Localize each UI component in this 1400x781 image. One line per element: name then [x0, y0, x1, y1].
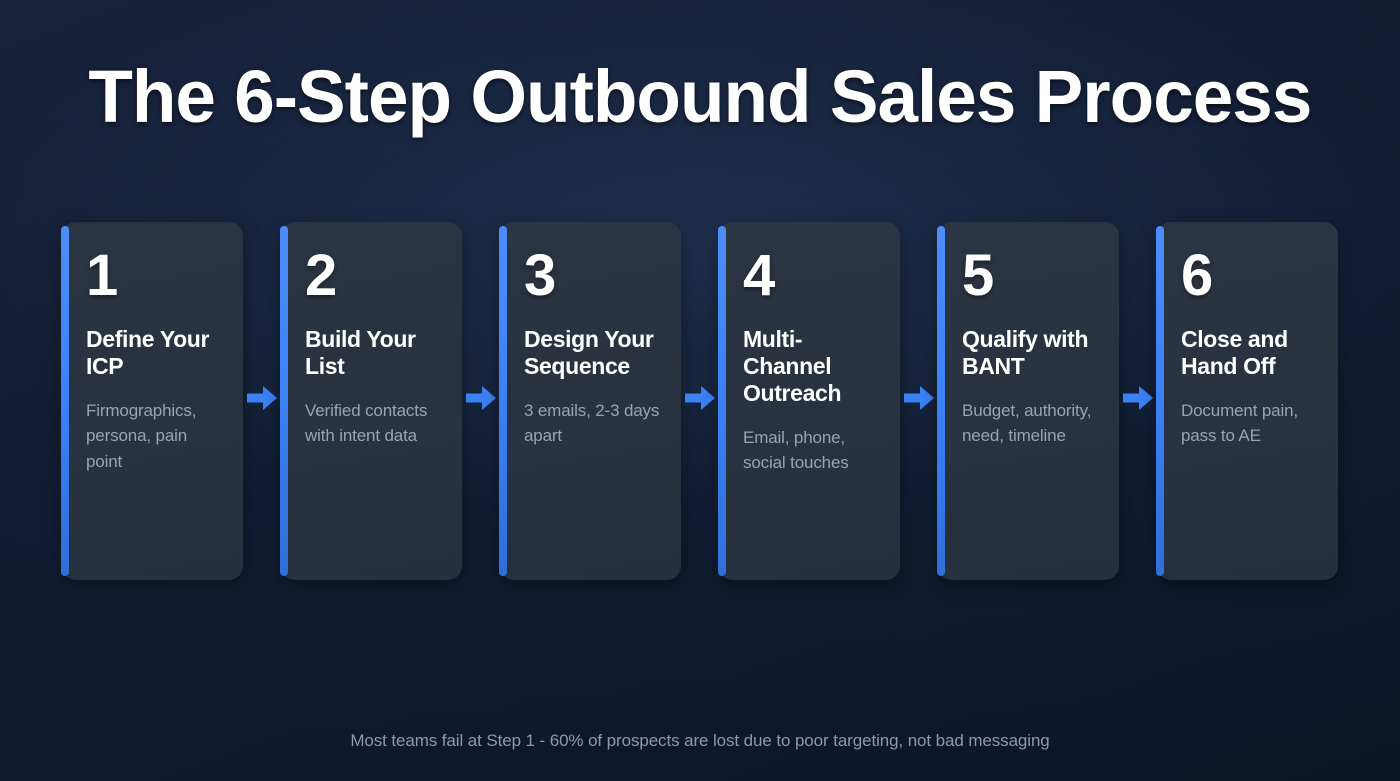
connector-1-to-2: [243, 222, 281, 580]
step-description: Firmographics, persona, pain point: [86, 398, 225, 475]
step-title: Close and Hand Off: [1181, 326, 1320, 380]
footer-note: Most teams fail at Step 1 - 60% of prosp…: [0, 731, 1400, 751]
step-number: 4: [743, 252, 882, 300]
connector-3-to-4: [681, 222, 719, 580]
step-number: 5: [962, 252, 1101, 300]
step-card-2[interactable]: 2 Build Your List Verified contacts with…: [281, 222, 462, 580]
arrow-right-icon: [904, 385, 934, 411]
step-number: 2: [305, 252, 444, 300]
arrow-right-icon: [1123, 385, 1153, 411]
step-description: 3 emails, 2-3 days apart: [524, 398, 663, 449]
arrow-right-icon: [685, 385, 715, 411]
step-card-4[interactable]: 4 Multi-Channel Outreach Email, phone, s…: [719, 222, 900, 580]
step-title: Define Your ICP: [86, 326, 225, 380]
page-title: The 6-Step Outbound Sales Process: [88, 54, 1311, 139]
step-description: Budget, authority, need, timeline: [962, 398, 1101, 449]
connector-2-to-3: [462, 222, 500, 580]
step-number: 1: [86, 252, 225, 300]
arrow-right-icon: [247, 385, 277, 411]
step-title: Design Your Sequence: [524, 326, 663, 380]
connector-4-to-5: [900, 222, 938, 580]
step-description: Email, phone, social touches: [743, 425, 882, 476]
process-steps-row: 1 Define Your ICP Firmographics, persona…: [62, 222, 1338, 580]
step-number: 3: [524, 252, 663, 300]
connector-5-to-6: [1119, 222, 1157, 580]
step-description: Document pain, pass to AE: [1181, 398, 1320, 449]
step-card-3[interactable]: 3 Design Your Sequence 3 emails, 2-3 day…: [500, 222, 681, 580]
step-title: Build Your List: [305, 326, 444, 380]
step-number: 6: [1181, 252, 1320, 300]
step-title: Qualify with BANT: [962, 326, 1101, 380]
step-card-5[interactable]: 5 Qualify with BANT Budget, authority, n…: [938, 222, 1119, 580]
step-card-6[interactable]: 6 Close and Hand Off Document pain, pass…: [1157, 222, 1338, 580]
step-title: Multi-Channel Outreach: [743, 326, 882, 407]
step-description: Verified contacts with intent data: [305, 398, 444, 449]
slide-canvas: The 6-Step Outbound Sales Process 1 Defi…: [0, 0, 1400, 781]
step-card-1[interactable]: 1 Define Your ICP Firmographics, persona…: [62, 222, 243, 580]
arrow-right-icon: [466, 385, 496, 411]
